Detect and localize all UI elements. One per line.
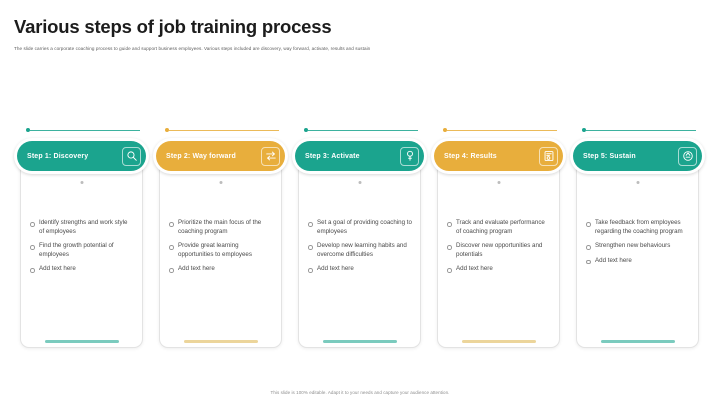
bullet-item: Track and evaluate performance of coachi…: [446, 219, 551, 236]
bullet-item: Develop new learning habits and overcome…: [307, 242, 412, 259]
step-column-2: Step 2: Way forwardPrioritize the main f…: [153, 128, 288, 348]
bullet-item: Provide great learning opportunities to …: [168, 242, 273, 259]
card-accent-bar: [601, 340, 675, 343]
bullet-item: Take feedback from employees regarding t…: [585, 219, 690, 236]
bullet-item: Add text here: [446, 265, 551, 274]
step-column-1: Step 1: DiscoveryIdentify strengths and …: [14, 128, 149, 348]
step-content-card[interactable]: Take feedback from employees regarding t…: [576, 158, 699, 348]
card-accent-bar: [45, 340, 119, 343]
connector-line: [447, 130, 557, 131]
key-icon: [400, 147, 419, 166]
card-marker-dot-icon: [497, 181, 500, 184]
footer-note: This slide is 100% editable. Adapt it to…: [0, 390, 720, 395]
bullet-item: Discover new opportunities and potential…: [446, 242, 551, 259]
step-content-card[interactable]: Identify strengths and work style of emp…: [20, 158, 143, 348]
step-header-pill[interactable]: Step 4: Results: [431, 138, 566, 174]
step-label: Step 1: Discovery: [27, 153, 88, 160]
bullet-list: Track and evaluate performance of coachi…: [446, 219, 551, 274]
step-connector: [582, 128, 705, 138]
card-marker-dot-icon: [80, 181, 83, 184]
report-document-icon: [539, 147, 558, 166]
bullet-item: Find the growth potential of employees: [29, 242, 134, 259]
bullet-item: Prioritize the main focus of the coachin…: [168, 219, 273, 236]
card-accent-bar: [323, 340, 397, 343]
recycle-circle-icon: [678, 147, 697, 166]
slide-header: Various steps of job training process Th…: [14, 16, 706, 52]
connector-line: [586, 130, 696, 131]
step-column-3: Step 3: ActivateSet a goal of providing …: [292, 128, 427, 348]
step-connector: [165, 128, 288, 138]
bullet-item: Add text here: [29, 265, 134, 274]
connector-line: [308, 130, 418, 131]
card-marker-dot-icon: [636, 181, 639, 184]
connector-line: [169, 130, 279, 131]
bullet-item: Set a goal of providing coaching to empl…: [307, 219, 412, 236]
card-accent-bar: [462, 340, 536, 343]
card-marker-dot-icon: [219, 181, 222, 184]
bullet-item: Add text here: [307, 265, 412, 274]
step-column-5: Step 5: SustainTake feedback from employ…: [570, 128, 705, 348]
step-content-card[interactable]: Set a goal of providing coaching to empl…: [298, 158, 421, 348]
step-header-pill[interactable]: Step 5: Sustain: [570, 138, 705, 174]
bullet-item: Identify strengths and work style of emp…: [29, 219, 134, 236]
card-accent-bar: [184, 340, 258, 343]
exchange-arrows-icon: [261, 147, 280, 166]
step-connector: [443, 128, 566, 138]
bullet-item: Add text here: [585, 257, 690, 266]
magnifier-icon: [122, 147, 141, 166]
step-connector: [26, 128, 149, 138]
step-label: Step 4: Results: [444, 153, 497, 160]
steps-row: Step 1: DiscoveryIdentify strengths and …: [14, 128, 706, 348]
card-marker-dot-icon: [358, 181, 361, 184]
bullet-list: Prioritize the main focus of the coachin…: [168, 219, 273, 274]
bullet-list: Identify strengths and work style of emp…: [29, 219, 134, 274]
bullet-list: Take feedback from employees regarding t…: [585, 219, 690, 265]
step-content-card[interactable]: Prioritize the main focus of the coachin…: [159, 158, 282, 348]
connector-line: [30, 130, 140, 131]
bullet-item: Add text here: [168, 265, 273, 274]
step-header-pill[interactable]: Step 2: Way forward: [153, 138, 288, 174]
step-label: Step 3: Activate: [305, 153, 360, 160]
page-subtitle: The slide carries a corporate coaching p…: [14, 45, 706, 52]
step-connector: [304, 128, 427, 138]
slide-canvas: Various steps of job training process Th…: [0, 0, 720, 404]
step-label: Step 2: Way forward: [166, 153, 236, 160]
bullet-item: Strengthen new behaviours: [585, 242, 690, 251]
step-header-pill[interactable]: Step 1: Discovery: [14, 138, 149, 174]
step-header-pill[interactable]: Step 3: Activate: [292, 138, 427, 174]
step-content-card[interactable]: Track and evaluate performance of coachi…: [437, 158, 560, 348]
step-column-4: Step 4: ResultsTrack and evaluate perfor…: [431, 128, 566, 348]
step-label: Step 5: Sustain: [583, 153, 636, 160]
bullet-list: Set a goal of providing coaching to empl…: [307, 219, 412, 274]
page-title: Various steps of job training process: [14, 16, 706, 38]
